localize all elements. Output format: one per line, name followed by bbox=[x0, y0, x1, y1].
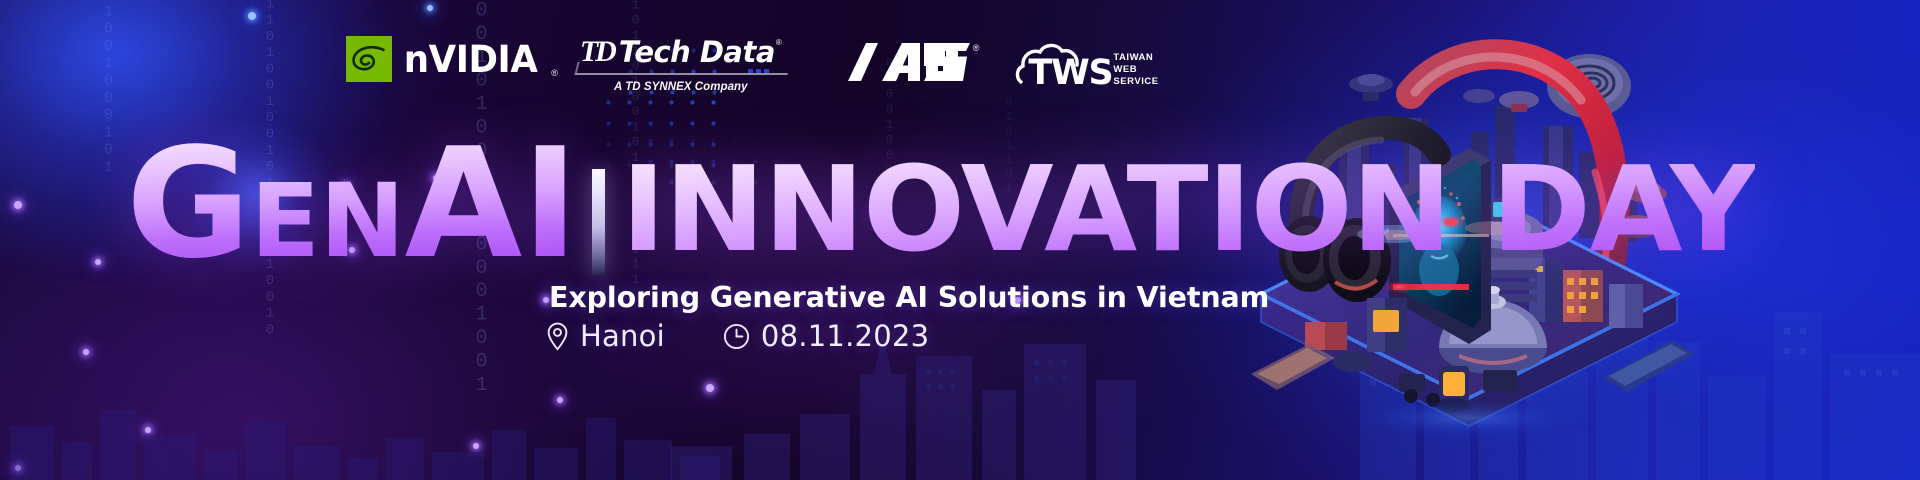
genai-innovation-day-banner: 0100100010101101001001011100100101001010… bbox=[0, 0, 1920, 480]
tws-sub-line-2: WEB bbox=[1113, 65, 1158, 75]
tech-data-main: TD Tech Data ® bbox=[580, 37, 782, 67]
sparkle-dot-1 bbox=[14, 201, 22, 209]
meta-location-label: Hanoi bbox=[580, 322, 665, 351]
glow-center-purple bbox=[480, 150, 1180, 480]
tws-mark: TWS bbox=[1015, 38, 1111, 90]
tws-sub-line-1: TAIWAN bbox=[1113, 53, 1158, 63]
sparkle-dot-12 bbox=[15, 465, 21, 471]
sparkle-dot-15 bbox=[875, 211, 881, 217]
event-meta-row: Hanoi 08.11.2023 bbox=[546, 322, 929, 351]
meta-location: Hanoi bbox=[546, 322, 665, 351]
halftone-dot-grid-1 bbox=[598, 92, 726, 178]
tech-data-tagline: A TD SYNNEX Company bbox=[614, 82, 748, 94]
sparkle-dot-8 bbox=[543, 297, 549, 303]
logo-tws[interactable]: TWS TAIWAN WEB SERVICE bbox=[1015, 36, 1158, 90]
partner-logo-row: nVIDIA ® TD Tech Data ® A TD SYNNEX Comp… bbox=[346, 36, 1159, 94]
logo-tech-data[interactable]: TD Tech Data ® A TD SYNNEX Company bbox=[580, 36, 782, 94]
nvidia-registered-mark: ® bbox=[551, 69, 558, 78]
tech-data-dots-icon bbox=[748, 69, 769, 73]
genai-brand-title: GENAI bbox=[126, 143, 578, 265]
tws-sub-lines: TAIWAN WEB SERVICE bbox=[1113, 53, 1158, 87]
tws-sub-line-3: SERVICE bbox=[1113, 77, 1158, 87]
isometric-ai-tech-diorama bbox=[1243, 22, 1695, 474]
genai-seg-g: G bbox=[126, 115, 250, 292]
sparkle-dot-16 bbox=[1015, 297, 1021, 303]
meta-date-label: 08.11.2023 bbox=[761, 322, 929, 351]
glow-top-left-core bbox=[170, 120, 340, 270]
binary-code-column-6: 0101101 bbox=[1002, 96, 1016, 196]
meta-date: 08.11.2023 bbox=[723, 322, 929, 351]
tech-data-registered-mark: ® bbox=[776, 39, 782, 47]
sparkle-dot-11 bbox=[473, 443, 479, 449]
sparkle-dot-6 bbox=[83, 349, 89, 355]
event-subtitle: Exploring Generative AI Solutions in Vie… bbox=[549, 283, 1269, 313]
halftone-dot-grid-3 bbox=[640, 130, 790, 194]
sparkle-dot-7 bbox=[145, 427, 151, 433]
logo-nvidia[interactable]: nVIDIA ® bbox=[346, 36, 558, 82]
city-skyline-middle bbox=[640, 310, 1180, 480]
genai-seg-en: EN bbox=[250, 162, 404, 281]
binary-code-column-2: 0110100100101110010010 bbox=[262, 0, 278, 338]
location-pin-icon bbox=[546, 322, 569, 351]
sparkle-dot-4 bbox=[95, 259, 101, 265]
sparkle-dot-2 bbox=[343, 183, 349, 189]
genai-seg-ai: AI bbox=[405, 115, 578, 292]
tws-wordmark: TWS bbox=[1028, 56, 1112, 91]
title-divider-bar bbox=[592, 169, 605, 275]
city-skyline-left bbox=[0, 330, 760, 480]
nvidia-eye-icon bbox=[346, 36, 392, 82]
sparkle-dot-14 bbox=[427, 5, 433, 11]
logo-asus[interactable]: ® bbox=[848, 36, 980, 81]
nvidia-wordmark: nVIDIA bbox=[404, 41, 538, 78]
sparkle-dot-9 bbox=[706, 384, 714, 392]
asus-registered-mark: ® bbox=[973, 44, 980, 53]
sparkle-dot-13 bbox=[248, 12, 256, 20]
asus-wordmark bbox=[848, 43, 970, 81]
clock-icon bbox=[723, 323, 750, 350]
glow-top-left bbox=[0, 0, 400, 280]
sparkle-dot-5 bbox=[433, 175, 439, 181]
sparkle-dot-3 bbox=[349, 247, 355, 253]
sparkle-dot-10 bbox=[557, 397, 563, 403]
binary-code-column-1: 01001000101 bbox=[100, 0, 117, 176]
